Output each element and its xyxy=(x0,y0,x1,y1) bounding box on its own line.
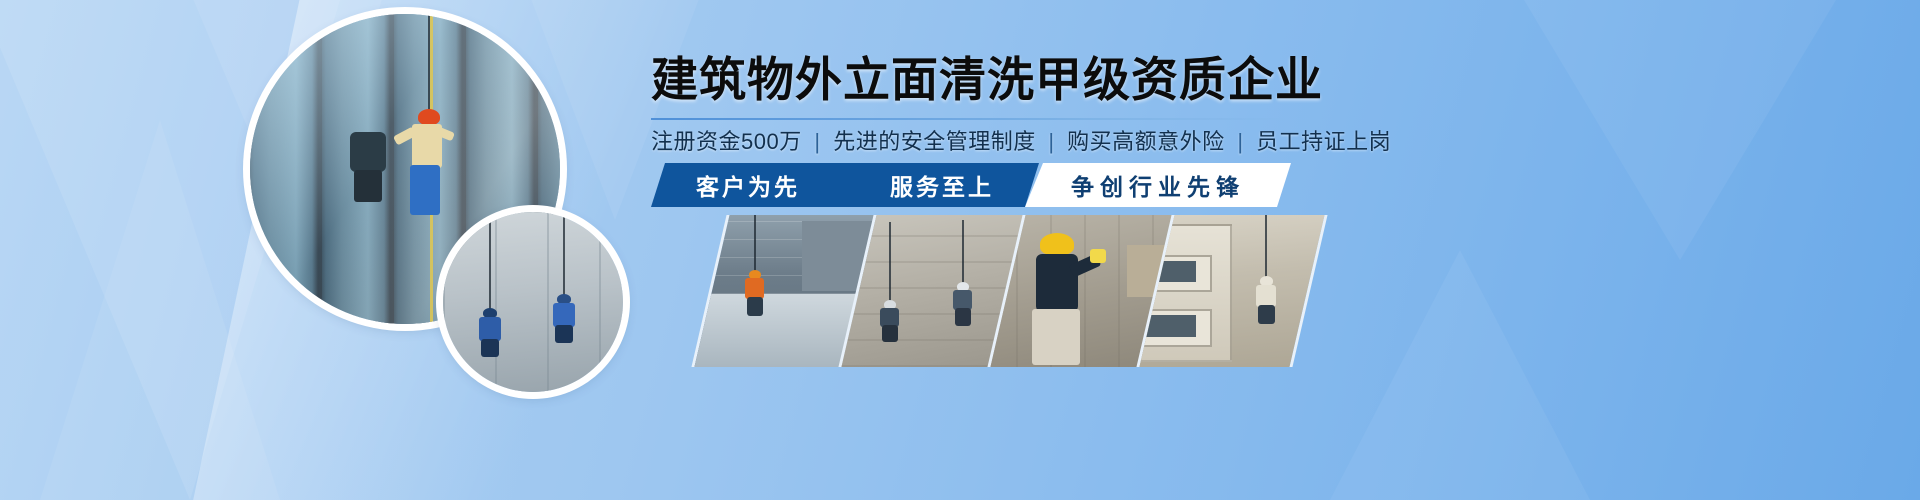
circle-photo-grey-facade xyxy=(443,212,623,392)
credential-3: 购买高额意外险 xyxy=(1067,129,1225,154)
slogan-badge-bar: 客户为先 服务至上 争创行业先锋 xyxy=(651,163,1291,207)
worker-figure-pane-4 xyxy=(1252,276,1280,324)
subtitle-credentials: 注册资金500万 | 先进的安全管理制度 | 购买高额意外险 | 员工持证上岗 xyxy=(651,126,1291,158)
worker-figure-left xyxy=(473,308,507,358)
badge-white-group: 争创行业先锋 xyxy=(1025,163,1291,207)
badge-blue-group: 客户为先 服务至上 xyxy=(651,163,1039,207)
worker-figure-pane-3 xyxy=(1018,233,1094,365)
grey-facade-image xyxy=(443,212,623,392)
worker-figure-pane-2a xyxy=(877,300,903,342)
credential-2: 先进的安全管理制度 xyxy=(833,129,1036,154)
credential-1: 注册资金500万 xyxy=(651,129,802,154)
page-title: 建筑物外立面清洗甲级资质企业 xyxy=(651,52,1291,108)
badge-slogan-2: 服务至上 xyxy=(890,168,994,202)
badge-slogan-1: 客户为先 xyxy=(696,168,800,202)
worker-figure-large xyxy=(400,109,446,229)
decorative-triangle-5 xyxy=(1330,250,1590,500)
title-divider xyxy=(651,118,1289,120)
photo-strip xyxy=(651,215,1291,367)
badge-slogan-3: 争创行业先锋 xyxy=(1071,168,1245,202)
worker-figure-pane-1 xyxy=(742,270,768,316)
promo-banner: 建筑物外立面清洗甲级资质企业 注册资金500万 | 先进的安全管理制度 | 购买… xyxy=(0,0,1920,500)
worker-figure-right xyxy=(547,294,581,344)
photo-pane-4 xyxy=(1136,215,1327,367)
separator-3: | xyxy=(1231,129,1249,154)
credential-4: 员工持证上岗 xyxy=(1256,129,1391,154)
decorative-triangle-4 xyxy=(1500,0,1860,260)
separator-1: | xyxy=(808,129,826,154)
worker-figure-pane-2b xyxy=(950,282,976,326)
worker-figure-dark xyxy=(346,132,390,202)
photo-pane-4-image xyxy=(1136,215,1327,367)
separator-2: | xyxy=(1042,129,1060,154)
